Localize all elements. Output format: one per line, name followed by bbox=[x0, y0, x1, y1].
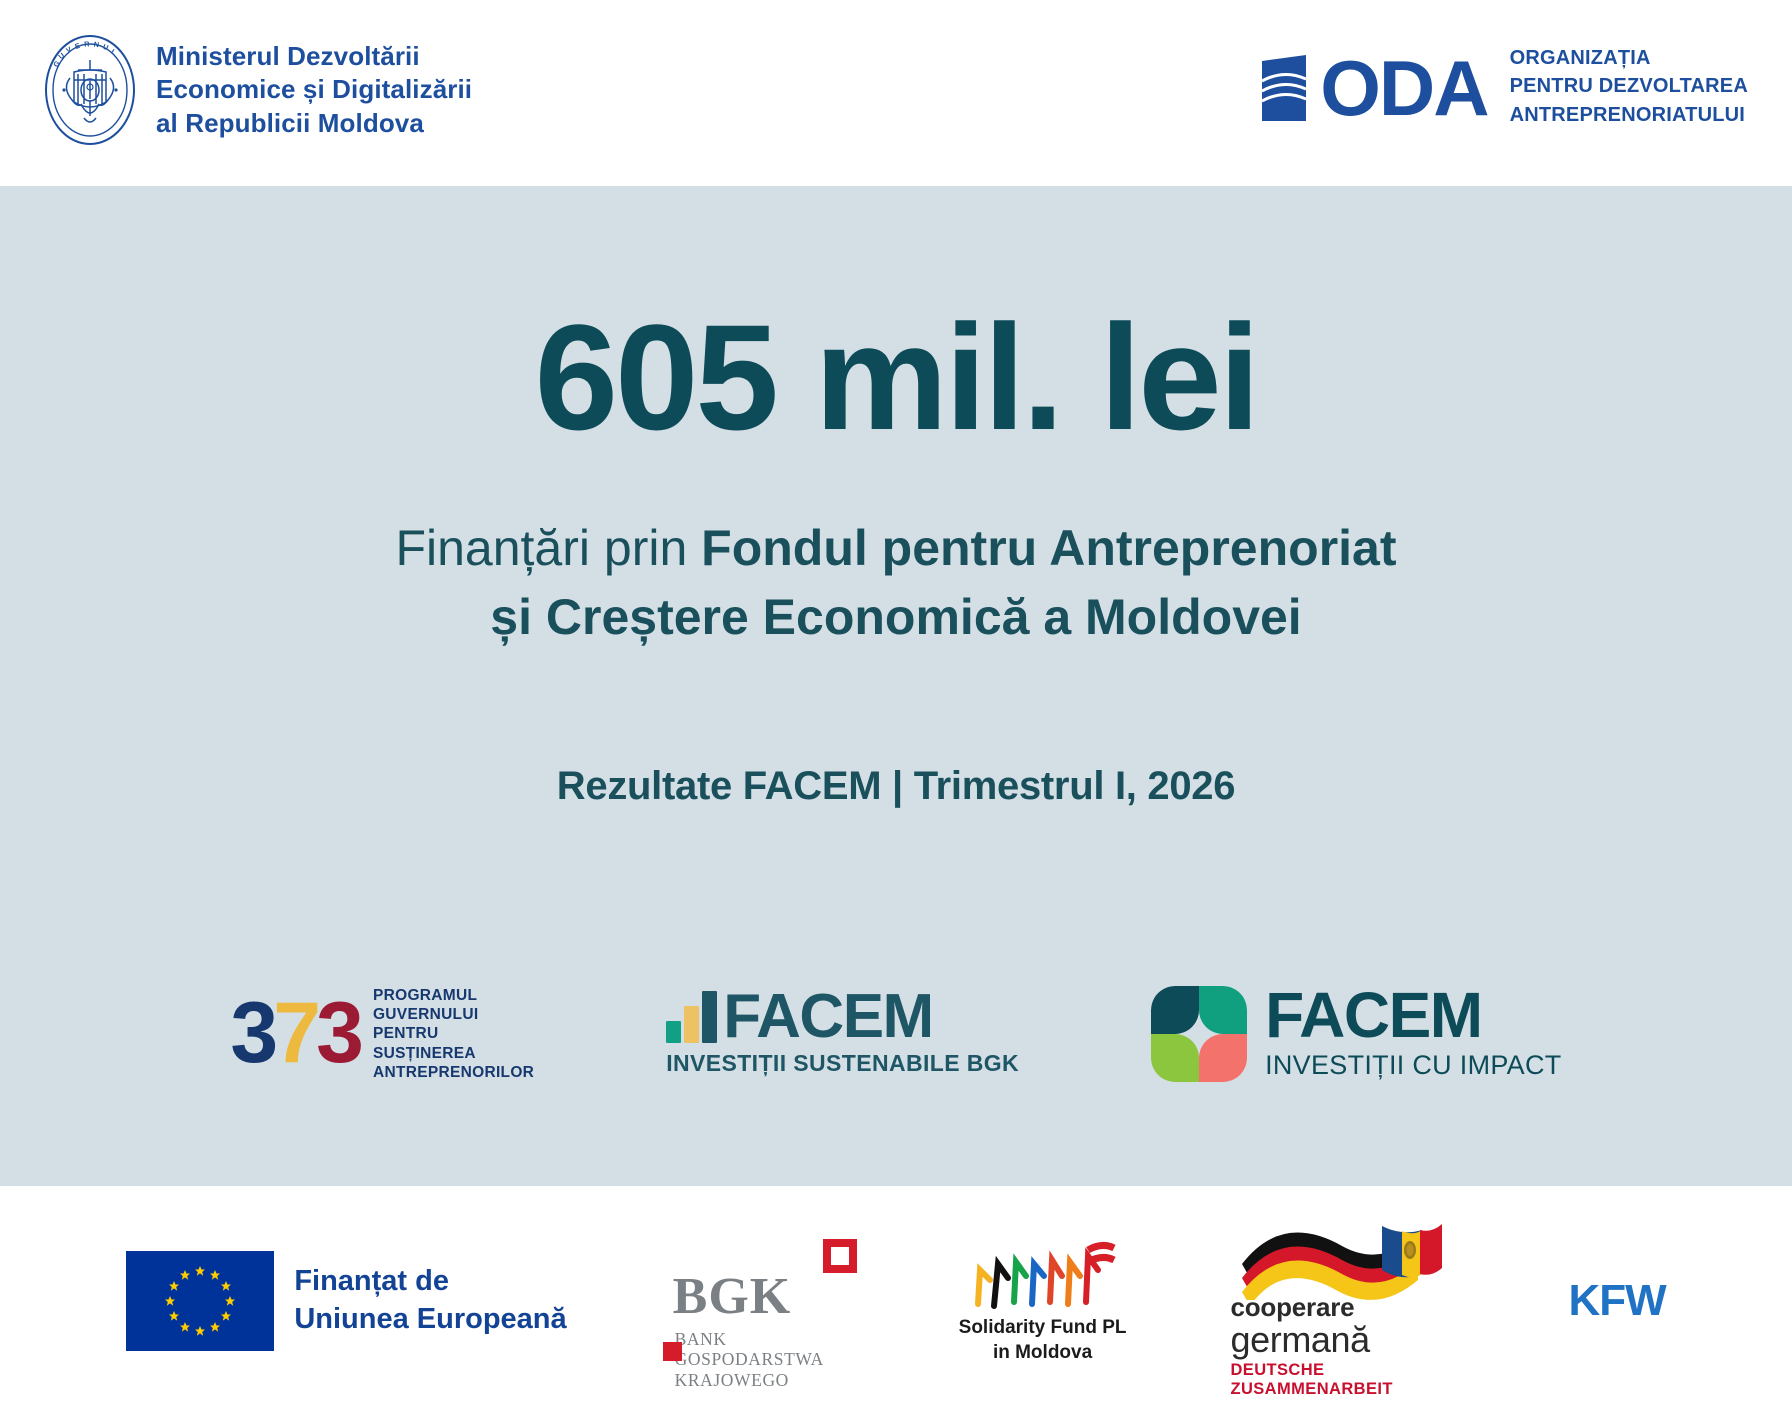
headline-amount: 605 mil. lei bbox=[0, 302, 1792, 452]
german-cooperation-line2: germană bbox=[1230, 1320, 1472, 1360]
bar-3 bbox=[702, 991, 717, 1043]
german-cooperation-line3: DEUTSCHE ZUSAMMENARBEIT bbox=[1230, 1361, 1472, 1399]
oda-wave-square-icon bbox=[1262, 55, 1324, 121]
facem-impact-text: FACEM INVESTIȚII CU IMPACT bbox=[1265, 987, 1562, 1082]
svg-text:N: N bbox=[93, 40, 99, 50]
facem-impact-logo: FACEM INVESTIȚII CU IMPACT bbox=[1151, 986, 1562, 1082]
subtitle-bold-line1: Fondul pentru Antreprenoriat bbox=[701, 520, 1396, 576]
eu-funding-logo: Finanțat de Uniunea Europeană bbox=[126, 1251, 566, 1351]
digit-3-blue: 3 bbox=[230, 997, 273, 1071]
subtitle-regular: Finanțări prin bbox=[395, 520, 701, 576]
373-digits: 3 7 3 bbox=[230, 997, 359, 1071]
bgk-logo: BGK BANK GOSPODARSTWA KRAJOWEGO bbox=[663, 1239, 863, 1363]
ministry-logo: G U V E R N U L R E P U B L I C I I M O bbox=[44, 34, 472, 146]
solidarity-fund-text: Solidarity Fund PL in Moldova bbox=[959, 1316, 1127, 1365]
colorful-people-figures-icon bbox=[968, 1236, 1118, 1312]
bgk-square-filled-icon bbox=[663, 1342, 682, 1361]
german-cooperation-text: cooperare germană DEUTSCHE ZUSAMMENARBEI… bbox=[1230, 1294, 1472, 1400]
moldova-coat-of-arms-seal-icon: G U V E R N U L R E P U B L I C I I M O bbox=[44, 34, 136, 146]
facem-bgk-word: FACEM bbox=[723, 992, 933, 1043]
facem-bgk-lockup: FACEM bbox=[666, 991, 933, 1043]
oda-acronym: ODA bbox=[1320, 57, 1487, 121]
four-quadrant-circles-icon bbox=[1151, 986, 1247, 1082]
facem-impact-word: FACEM bbox=[1265, 987, 1562, 1045]
german-cooperation-line1: cooperare bbox=[1230, 1294, 1472, 1320]
bar-1 bbox=[666, 1021, 681, 1043]
facem-bgk-logo: FACEM INVESTIȚII SUSTENABILE BGK bbox=[666, 991, 1019, 1077]
bar-chart-icon bbox=[666, 991, 717, 1043]
program-373-logo: 3 7 3 PROGRAMUL GUVERNULUI PENTRU SUSȚIN… bbox=[230, 986, 534, 1082]
facem-impact-tagline: INVESTIȚII CU IMPACT bbox=[1265, 1050, 1562, 1081]
program-373-text: PROGRAMUL GUVERNULUI PENTRU SUSȚINEREA A… bbox=[373, 986, 534, 1082]
german-cooperation-logo: cooperare germană DEUTSCHE ZUSAMMENARBEI… bbox=[1222, 1226, 1472, 1376]
page-header: G U V E R N U L R E P U B L I C I I M O bbox=[0, 0, 1792, 186]
bar-2 bbox=[684, 1006, 699, 1043]
kfw-logo: KFW bbox=[1568, 1276, 1665, 1326]
oda-lockup: ODA bbox=[1262, 55, 1487, 121]
bgk-acronym: BGK bbox=[673, 1271, 792, 1323]
ministry-name: Ministerul Dezvoltării Economice și Digi… bbox=[156, 40, 472, 140]
page-footer: Finanțat de Uniunea Europeană BGK BANK G… bbox=[0, 1186, 1792, 1415]
eu-funding-text: Finanțat de Uniunea Europeană bbox=[294, 1263, 566, 1338]
oda-logo: ODA ORGANIZAȚIA PENTRU DEZVOLTAREA ANTRE… bbox=[1262, 44, 1748, 131]
partner-logo-row: 3 7 3 PROGRAMUL GUVERNULUI PENTRU SUSȚIN… bbox=[0, 986, 1792, 1082]
results-label: Rezultate FACEM | Trimestrul I, 2026 bbox=[0, 764, 1792, 809]
subtitle: Finanțări prin Fondul pentru Antreprenor… bbox=[0, 514, 1792, 652]
solidarity-fund-logo: Solidarity Fund PL in Moldova bbox=[959, 1236, 1127, 1365]
bgk-square-outline-icon bbox=[823, 1239, 857, 1273]
eu-flag-icon bbox=[126, 1251, 274, 1351]
oda-full-name: ORGANIZAȚIA PENTRU DEZVOLTAREA ANTREPREN… bbox=[1510, 44, 1748, 131]
german-moldovan-flag-wave-icon bbox=[1232, 1220, 1482, 1300]
digit-7-gold: 7 bbox=[273, 997, 316, 1071]
subtitle-bold-line2: și Creștere Economică a Moldovei bbox=[490, 589, 1301, 645]
main-panel: 605 mil. lei Finanțări prin Fondul pentr… bbox=[0, 186, 1792, 1186]
bgk-full-name: BANK GOSPODARSTWA KRAJOWEGO bbox=[675, 1329, 863, 1391]
facem-bgk-tagline: INVESTIȚII SUSTENABILE BGK bbox=[666, 1050, 1019, 1077]
digit-3-red: 3 bbox=[316, 997, 359, 1071]
